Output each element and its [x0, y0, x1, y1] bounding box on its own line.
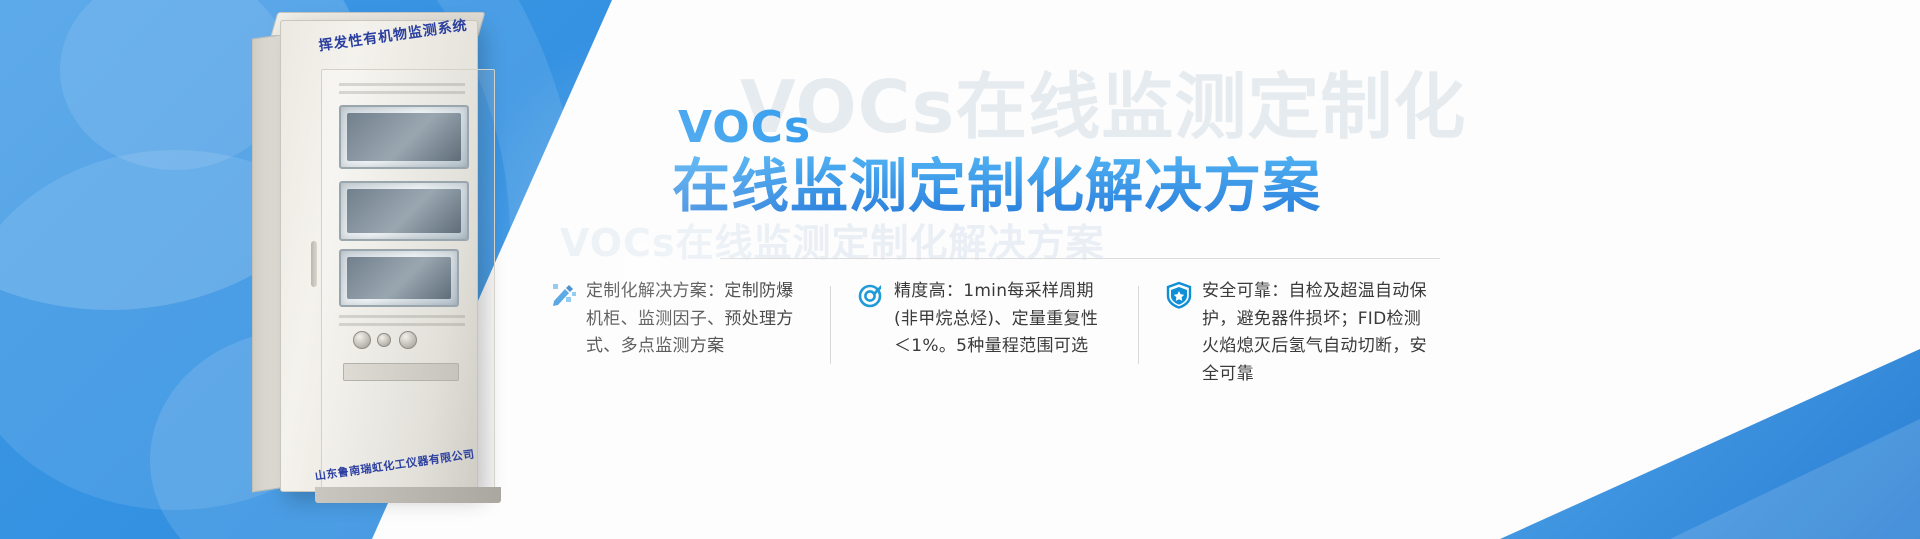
- instrument-window-lower: [339, 249, 459, 307]
- cabinet-vent: [339, 91, 465, 94]
- feature-text: 定制化解决方案：定制防爆机柜、监测因子、预处理方式、多点监测方案: [586, 278, 804, 361]
- shield-star-icon: [1164, 280, 1194, 310]
- vocs-promo-banner: VOCs在线监测定制化 VOCs在线监测定制化解决方案 VOCs 在线监测定制化…: [0, 0, 1920, 539]
- target-accuracy-icon: [856, 280, 886, 310]
- product-photo-cabinet: 挥发性有机物监测系统 山东鲁南瑞虹化工仪器有限公司: [252, 8, 524, 508]
- feature-item-customization: 定制化解决方案：定制防爆机柜、监测因子、预处理方式、多点监测方案: [522, 278, 830, 361]
- control-strip: [343, 363, 459, 381]
- instrument-screen: [347, 257, 451, 299]
- feature-text: 安全可靠：自检及超温自动保护，避免器件损坏；FID检测火焰熄灭后氢气自动切断，安…: [1202, 278, 1432, 388]
- instrument-screen: [347, 189, 461, 233]
- cabinet-base: [315, 487, 501, 503]
- feature-item-safety: 安全可靠：自检及超温自动保护，避免器件损坏；FID检测火焰熄灭后氢气自动切断，安…: [1138, 278, 1458, 388]
- control-knob: [377, 333, 391, 347]
- cabinet-vent: [339, 323, 465, 326]
- feature-text: 精度高：1min每采样周期(非甲烷总烃)、定量重复性＜1%。5种量程范围可选: [894, 278, 1112, 361]
- headline-divider: [720, 258, 1440, 259]
- cabinet-handle: [311, 241, 317, 287]
- control-knob: [353, 331, 371, 349]
- control-knob: [399, 331, 417, 349]
- headline-block: VOCs 在线监测定制化解决方案: [672, 106, 1321, 217]
- instrument-window-upper: [339, 105, 469, 169]
- headline-english: VOCs: [678, 106, 1321, 150]
- cabinet-vent: [339, 315, 465, 318]
- cabinet-body: [280, 20, 478, 492]
- feature-item-accuracy: 精度高：1min每采样周期(非甲烷总烃)、定量重复性＜1%。5种量程范围可选: [830, 278, 1138, 361]
- pencil-tools-icon: [548, 280, 578, 310]
- headline-chinese: 在线监测定制化解决方案: [672, 156, 1321, 217]
- instrument-window-middle: [339, 181, 469, 241]
- instrument-screen: [347, 113, 461, 161]
- cabinet-vent: [339, 83, 465, 86]
- feature-list: 定制化解决方案：定制防爆机柜、监测因子、预处理方式、多点监测方案 精度高：1mi…: [522, 278, 1458, 388]
